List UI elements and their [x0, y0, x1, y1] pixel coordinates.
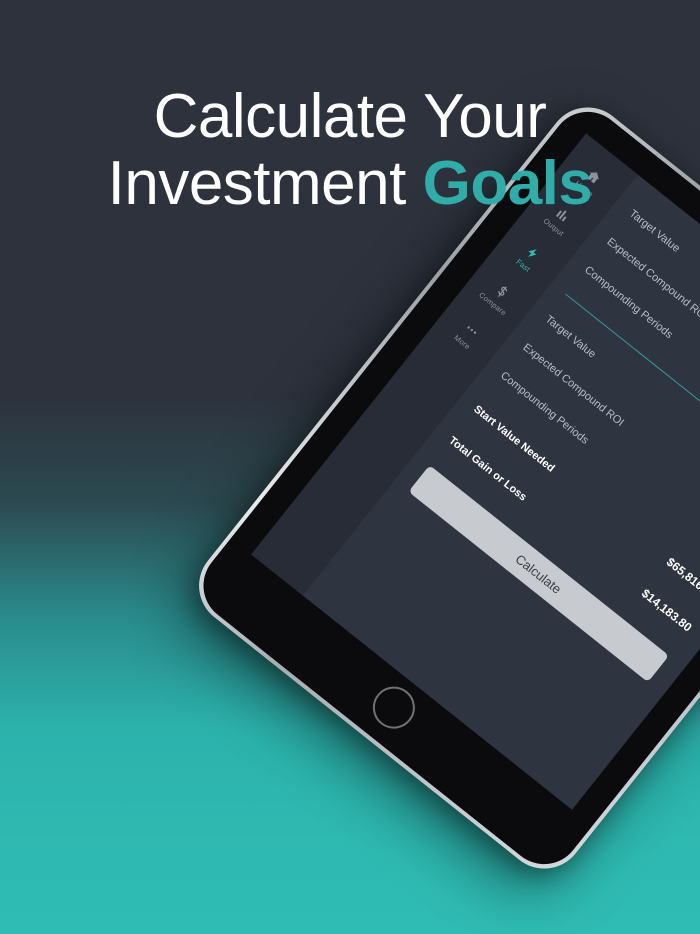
home-button[interactable] — [364, 678, 423, 737]
